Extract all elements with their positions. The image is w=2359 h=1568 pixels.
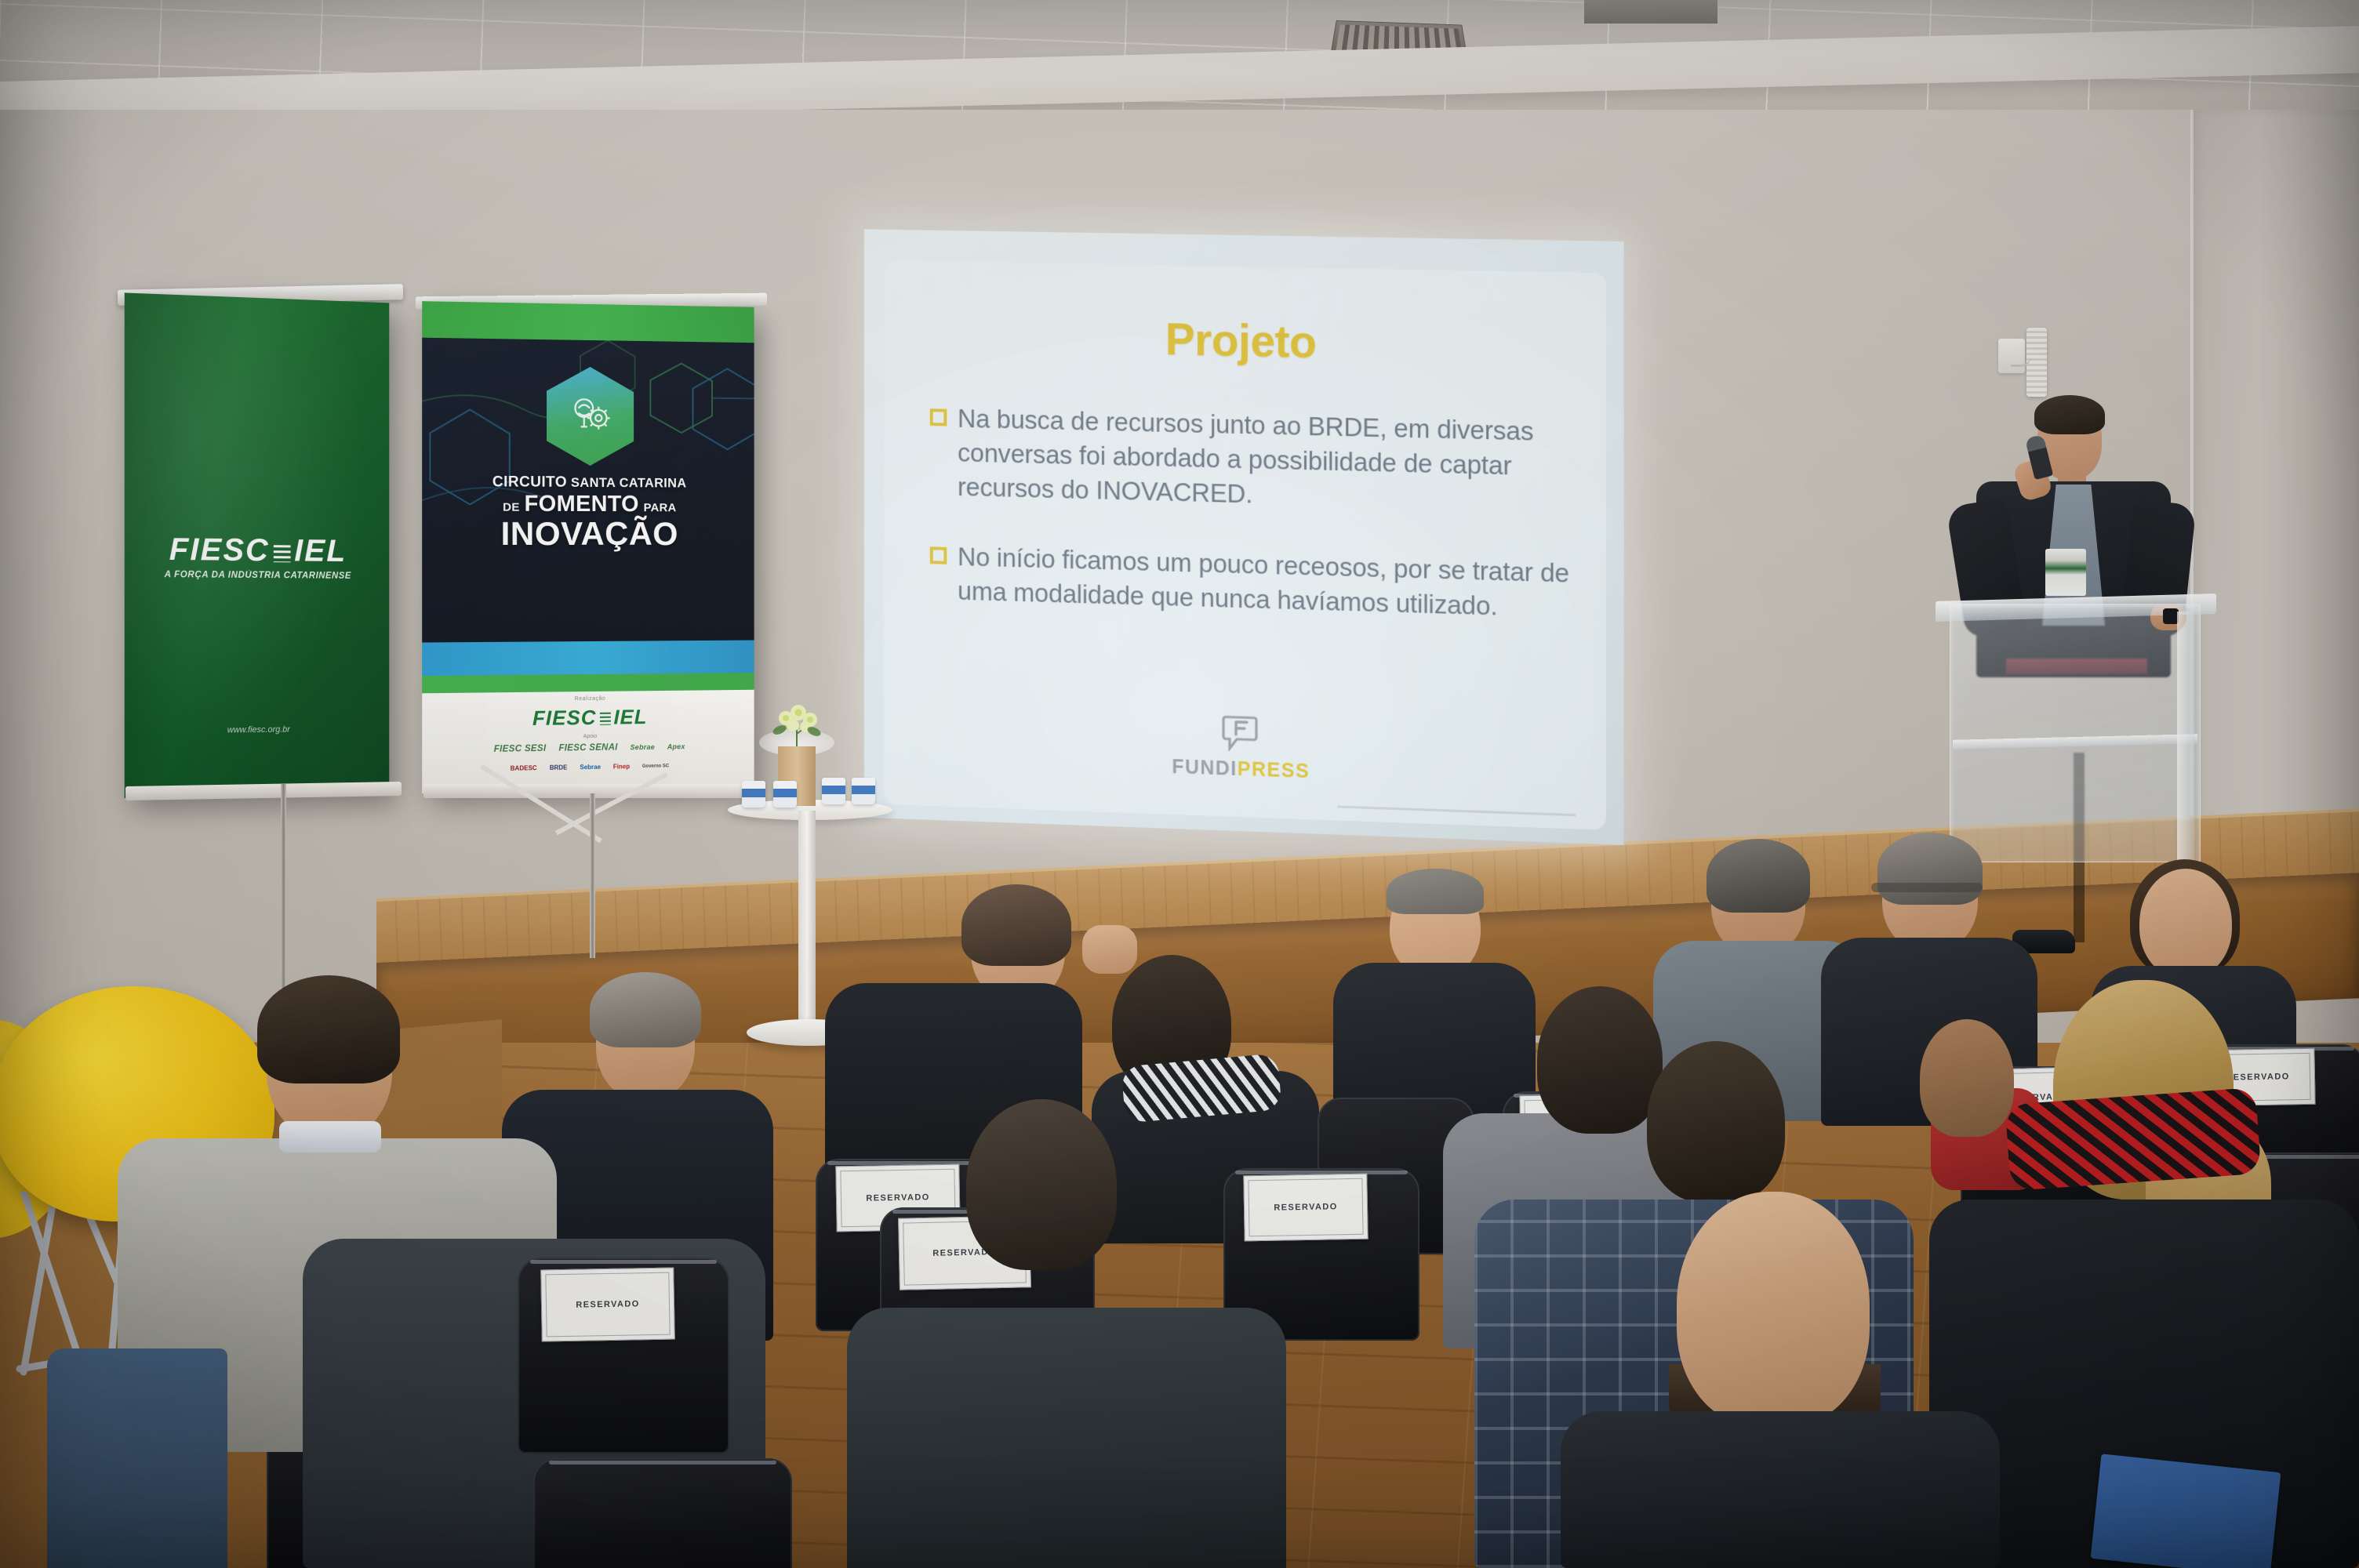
chair-highlight bbox=[2252, 1155, 2359, 1159]
organizer-iel: IEL bbox=[613, 705, 647, 728]
organizer-bars-icon bbox=[600, 713, 611, 725]
banner-organizer-logo: FIESCIEL bbox=[422, 704, 754, 732]
water-cup bbox=[852, 778, 875, 804]
fiesc-url: www.fiesc.org.br bbox=[125, 724, 390, 735]
event-title-fomento: FOMENTO bbox=[525, 492, 639, 517]
attendee-hair bbox=[1877, 833, 1983, 905]
event-title-sc: SANTA CATARINA bbox=[571, 476, 686, 491]
fiesc-bars-icon bbox=[274, 545, 291, 562]
attendee-torso bbox=[847, 1308, 1286, 1568]
water-cup bbox=[822, 778, 845, 804]
reserved-sign: RESERVADO bbox=[540, 1268, 675, 1342]
eyeglasses-icon bbox=[1871, 883, 1983, 892]
attendee-head-back bbox=[1920, 1019, 2014, 1137]
flower-arrangement-icon bbox=[767, 704, 827, 746]
slide-bullet-item: Na busca de recursos junto ao BRDE, em d… bbox=[930, 401, 1571, 519]
gear-brain-icon bbox=[565, 390, 616, 443]
speaker-name-badge bbox=[2045, 549, 2086, 596]
acrylic-podium bbox=[1950, 604, 2201, 862]
attendee-hand bbox=[1082, 925, 1137, 974]
conference-room-photo: FIESCIEL A FORÇA DA INDÚSTRIA CATARINENS… bbox=[0, 0, 2359, 1568]
slide-footer-rule bbox=[1337, 805, 1576, 816]
red-checked-scarf bbox=[2005, 1087, 2262, 1191]
sponsor-sebrae-1: Sebrae bbox=[631, 743, 655, 751]
attendee-hair bbox=[1707, 839, 1810, 913]
attendee-hair bbox=[961, 884, 1071, 966]
slide-bullet-list: Na busca de recursos junto ao BRDE, em d… bbox=[930, 401, 1571, 662]
blue-folder[interactable] bbox=[2091, 1454, 2281, 1568]
flag-f-icon bbox=[1221, 713, 1260, 753]
attendee-head-back bbox=[966, 1099, 1117, 1270]
slide-bullet-item: No início ficamos um pouco receosos, por… bbox=[930, 539, 1571, 626]
event-title-de: DE bbox=[503, 501, 520, 514]
wall-speaker-icon bbox=[2026, 328, 2047, 397]
banner-fiesc-green: FIESCIEL A FORÇA DA INDÚSTRIA CATARINENS… bbox=[125, 292, 390, 798]
reserved-label: RESERVADO bbox=[866, 1192, 929, 1203]
sponsor-apex: Apex bbox=[667, 742, 685, 750]
sponsor-brde: BRDE bbox=[550, 764, 568, 771]
podium-right-leg bbox=[2177, 612, 2194, 870]
sponsor-governo-sc: Governo SC bbox=[642, 764, 669, 769]
chair[interactable] bbox=[533, 1458, 792, 1568]
slide-bullet-text-2: No início ficamos um pouco receosos, por… bbox=[958, 539, 1571, 626]
shirt-collar bbox=[279, 1121, 381, 1152]
fundipress-part-b: PRESS bbox=[1238, 758, 1310, 782]
reserved-sign: RESERVADO bbox=[1243, 1174, 1368, 1242]
fiesc-brand-text: FIESC bbox=[169, 532, 270, 568]
attendee-hair bbox=[1387, 869, 1484, 914]
event-banner-pole bbox=[590, 793, 595, 958]
square-bullet-icon bbox=[930, 546, 947, 564]
event-title-inovacao: INOVAÇÃO bbox=[422, 517, 754, 550]
fundipress-wordmark: FUNDIPRESS bbox=[1172, 756, 1310, 783]
attendee-head-back bbox=[1537, 986, 1663, 1134]
side-table-stem bbox=[798, 811, 816, 1032]
banner-top-green-band bbox=[422, 301, 754, 343]
chair-highlight bbox=[530, 1260, 717, 1264]
fiesc-tagline: A FORÇA DA INDÚSTRIA CATARINENSE bbox=[125, 570, 390, 581]
attendee-bald-head bbox=[1677, 1192, 1870, 1427]
reserved-label: RESERVADO bbox=[2226, 1072, 2289, 1082]
slide-bullet-text-1: Na busca de recursos junto ao BRDE, em d… bbox=[958, 401, 1571, 519]
banner-circuito-inovacao: CIRCUITO SANTA CATARINA DE FOMENTO PARA … bbox=[422, 301, 754, 793]
water-cup bbox=[742, 781, 765, 808]
attendee-head bbox=[2139, 869, 2232, 978]
attendee-torso bbox=[1561, 1411, 2000, 1568]
sponsor-badesc: BADESC bbox=[511, 764, 537, 772]
fundipress-part-a: FUNDI bbox=[1172, 756, 1238, 780]
fiesc-brand-second: IEL bbox=[294, 534, 347, 568]
banner-blue-band bbox=[422, 641, 754, 676]
attendee-hair bbox=[257, 975, 400, 1083]
ceiling-fixture bbox=[1584, 0, 1717, 24]
wall-shadow-left bbox=[0, 110, 102, 1035]
chair-highlight bbox=[549, 1461, 776, 1465]
square-bullet-icon bbox=[930, 408, 947, 426]
attendee-hair bbox=[590, 972, 701, 1047]
sponsor-finep: Finep bbox=[613, 763, 630, 770]
presentation-clicker-icon bbox=[2163, 608, 2179, 624]
attendee-head-back bbox=[1647, 1041, 1785, 1203]
sponsor-sebrae-2: Sebrae bbox=[580, 764, 601, 771]
sponsor-fiesc-sesi: FIESC SESI bbox=[494, 744, 547, 754]
sponsor-fiesc-senai: FIESC SENAI bbox=[558, 742, 617, 753]
fiesc-logo: FIESCIEL A FORÇA DA INDÚSTRIA CATARINENS… bbox=[125, 532, 390, 581]
reserved-label: RESERVADO bbox=[1274, 1202, 1337, 1212]
slide-footer-logo: FUNDIPRESS bbox=[884, 702, 1606, 793]
water-cup bbox=[773, 781, 797, 808]
projection-screen: Projeto Na busca de recursos junto ao BR… bbox=[864, 229, 1624, 845]
event-title-circuito: CIRCUITO bbox=[493, 474, 567, 491]
attendee-jeans bbox=[47, 1348, 227, 1568]
event-banner-title: CIRCUITO SANTA CATARINA DE FOMENTO PARA … bbox=[422, 474, 754, 551]
speaker-hair bbox=[2034, 395, 2105, 434]
organizer-fiesc: FIESC bbox=[533, 706, 597, 730]
slide-content-panel: Projeto Na busca de recursos junto ao BR… bbox=[884, 260, 1606, 830]
slide-title: Projeto bbox=[884, 308, 1606, 374]
reserved-label: RESERVADO bbox=[576, 1299, 639, 1309]
event-title-para: PARA bbox=[644, 502, 677, 515]
